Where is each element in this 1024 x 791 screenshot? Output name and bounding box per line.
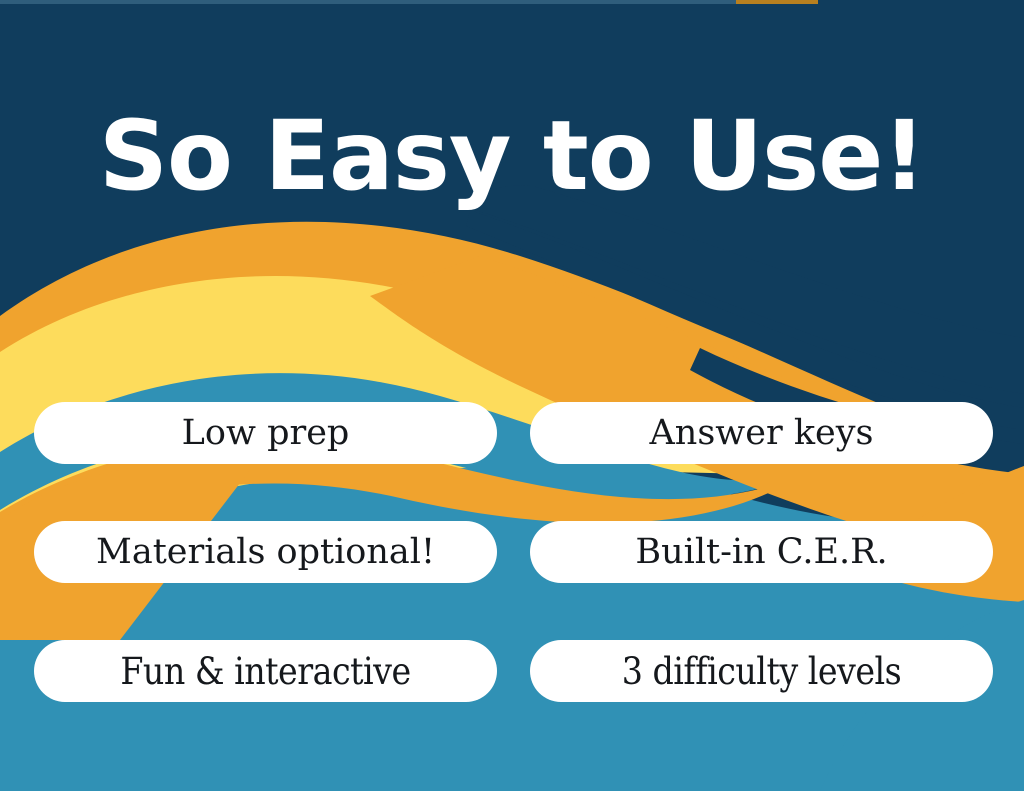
page-title: So Easy to Use! — [0, 108, 1024, 204]
feature-pill-three-difficulty-levels[interactable]: 3 difficulty levels — [530, 640, 993, 702]
feature-pill-label: Fun & interactive — [120, 653, 410, 690]
top-strip-orange-segment — [736, 0, 818, 4]
top-strip-remainder — [818, 0, 1024, 4]
feature-pill-label: Built-in C.E.R. — [635, 535, 887, 570]
feature-pill-label: Answer keys — [650, 416, 874, 451]
feature-pill-label: Materials optional! — [96, 535, 435, 570]
feature-pill-materials-optional[interactable]: Materials optional! — [34, 521, 497, 583]
top-progress-strip — [0, 0, 1024, 4]
feature-pill-fun-interactive[interactable]: Fun & interactive — [34, 640, 497, 702]
feature-pill-grid: Low prep Answer keys Materials optional!… — [34, 402, 993, 702]
top-strip-blue-segment — [0, 0, 736, 4]
feature-pill-answer-keys[interactable]: Answer keys — [530, 402, 993, 464]
feature-pill-built-in-cer[interactable]: Built-in C.E.R. — [530, 521, 993, 583]
feature-pill-label: Low prep — [182, 416, 350, 451]
feature-pill-low-prep[interactable]: Low prep — [34, 402, 497, 464]
feature-pill-label: 3 difficulty levels — [622, 653, 902, 690]
slide-canvas: So Easy to Use! Low prep Answer keys Mat… — [0, 0, 1024, 791]
